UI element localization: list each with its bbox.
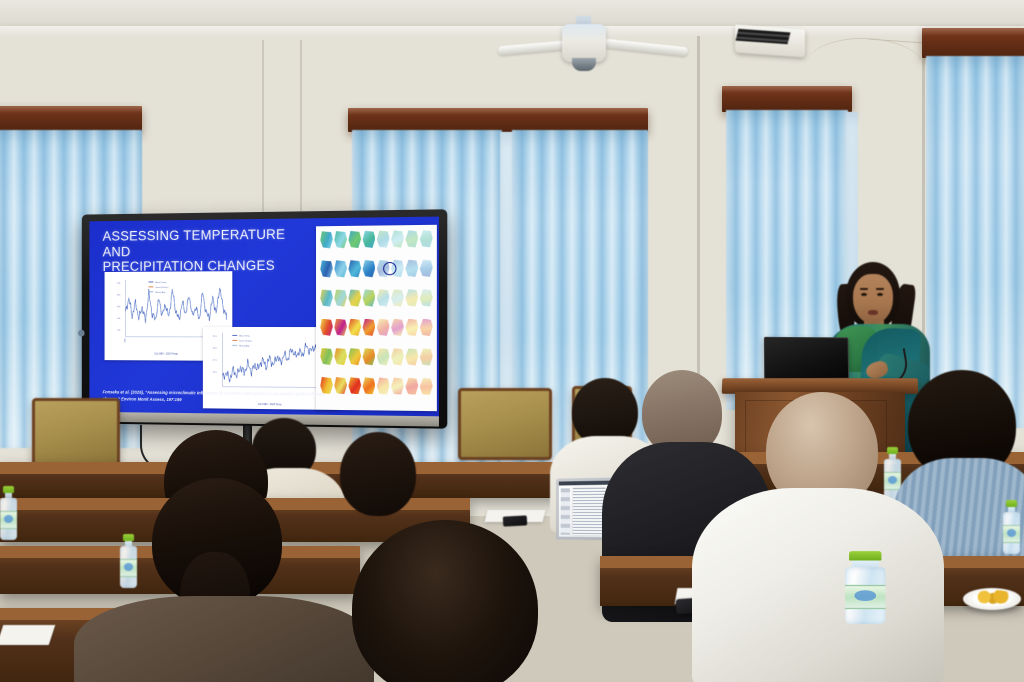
water-bottle[interactable] bbox=[0, 486, 17, 540]
bottle-neck bbox=[852, 561, 879, 568]
map-cell: 1960-1980 bbox=[334, 319, 347, 336]
map-cell: 1960-1980 bbox=[348, 260, 361, 277]
presenter-eyebrow bbox=[876, 288, 884, 290]
map-cell-label: 1960-1980 bbox=[334, 251, 347, 253]
map-cell-label: 1960-1980 bbox=[362, 251, 375, 253]
map-cell-label: 1960-1980 bbox=[420, 310, 433, 312]
presenter-laptop[interactable] bbox=[764, 337, 849, 380]
map-cell: 1960-1980 bbox=[405, 378, 418, 395]
bottle-label bbox=[0, 511, 17, 529]
map-cell-label: 1960-1980 bbox=[320, 339, 333, 341]
map-cell-label: 1960-1980 bbox=[420, 250, 433, 252]
map-cell-label: 1960-1980 bbox=[334, 310, 347, 312]
map-cell: 1960-1980 bbox=[391, 378, 404, 395]
map-cell: 1960-1980 bbox=[420, 378, 433, 396]
map-cell: 1960-1980 bbox=[391, 348, 404, 365]
svg-text:Linear (Temp.): Linear (Temp.) bbox=[239, 339, 252, 342]
map-cell: 1960-1980 bbox=[377, 230, 390, 247]
laptop-document-page bbox=[572, 487, 605, 534]
air-conditioner bbox=[735, 25, 805, 58]
map-cell: 1960-1980 bbox=[362, 348, 375, 365]
map-cell-label: 1960-1980 bbox=[334, 397, 347, 399]
map-cell-label: 1960-1980 bbox=[391, 280, 404, 282]
map-cell-label: 1960-1980 bbox=[377, 251, 390, 253]
bottle-body bbox=[0, 498, 17, 540]
paper-sheet bbox=[0, 625, 55, 645]
map-cell: 1960-1980 bbox=[420, 289, 433, 306]
attendee-front-left bbox=[74, 478, 364, 682]
map-cell: 1960-1980 bbox=[362, 319, 375, 336]
map-cell-label: 1960-1980 bbox=[420, 369, 433, 371]
slide-title-line-1: ASSESSING TEMPERATURE AND bbox=[103, 226, 310, 259]
map-cell-label: 1960-1980 bbox=[320, 281, 333, 283]
laptop-thumbnail-pane bbox=[561, 488, 570, 534]
presenter-eyebrow bbox=[860, 288, 868, 290]
map-cell-label: 1960-1980 bbox=[391, 368, 404, 370]
slide-surface: ASSESSING TEMPERATURE AND PRECIPITATION … bbox=[89, 217, 439, 417]
map-cell-label: 1960-1980 bbox=[348, 339, 361, 341]
conference-room-scene: ASSESSING TEMPERATURE AND PRECIPITATION … bbox=[0, 0, 1024, 682]
ceiling-fan bbox=[498, 16, 688, 76]
map-cell-label: 1960-1980 bbox=[377, 280, 390, 282]
climate-map-grid: 1960-19801960-19801960-19801960-19801960… bbox=[316, 225, 437, 411]
bottle-label bbox=[845, 584, 886, 609]
svg-text:Col 1960 - 2020 Precip.: Col 1960 - 2020 Precip. bbox=[154, 352, 179, 355]
map-cell: 1960-1980 bbox=[320, 289, 333, 306]
map-cell-label: 1960-1980 bbox=[320, 251, 333, 253]
map-cell-label: 1960-1980 bbox=[348, 397, 361, 399]
map-cell: 1960-1980 bbox=[420, 230, 433, 248]
presenter-mouth bbox=[868, 310, 878, 315]
map-cell: 1960-1980 bbox=[420, 319, 433, 336]
map-cell-label: 1960-1980 bbox=[405, 280, 418, 282]
svg-text:Linear (Precip.): Linear (Precip.) bbox=[155, 286, 168, 289]
bottle-cap bbox=[3, 486, 14, 493]
map-cell: 1960-1980 bbox=[362, 231, 375, 248]
map-cell-label: 1960-1980 bbox=[348, 310, 361, 312]
map-cell-label: 1960-1980 bbox=[362, 398, 375, 400]
map-cell: 1960-1980 bbox=[362, 377, 375, 394]
map-cell: 1960-1980 bbox=[377, 319, 390, 336]
tv-power-led-icon bbox=[78, 330, 85, 337]
presentation-screen[interactable]: ASSESSING TEMPERATURE AND PRECIPITATION … bbox=[82, 209, 447, 428]
map-cell-label: 1960-1980 bbox=[348, 251, 361, 253]
map-cell: 1960-1980 bbox=[405, 289, 418, 306]
map-cell-label: 1960-1980 bbox=[377, 398, 390, 400]
presenter-eye bbox=[877, 293, 883, 296]
map-cell-label: 1960-1980 bbox=[405, 398, 418, 400]
map-cell-label: 1960-1980 bbox=[377, 310, 390, 312]
map-cell-label: 1960-1980 bbox=[377, 368, 390, 370]
map-cell: 1960-1980 bbox=[320, 231, 333, 248]
map-cell-label: 1960-1980 bbox=[362, 368, 375, 370]
map-cell-label: 1960-1980 bbox=[391, 398, 404, 400]
fan-motor-housing bbox=[562, 24, 606, 62]
map-cell-label: 1960-1980 bbox=[320, 310, 333, 312]
map-cell: 1960-1980 bbox=[377, 289, 390, 306]
map-cell-label: 1960-1980 bbox=[391, 310, 404, 312]
map-grid-container: 1960-19801960-19801960-19801960-19801960… bbox=[316, 225, 437, 411]
map-cell-label: 1960-1980 bbox=[405, 339, 418, 341]
map-cell: 1960-1980 bbox=[420, 260, 433, 277]
pelmet-right-1 bbox=[722, 86, 852, 112]
map-cell: 1960-1980 bbox=[348, 231, 361, 248]
map-cell: 1960-1980 bbox=[334, 377, 347, 394]
svg-text:1960: 1960 bbox=[125, 338, 127, 342]
map-cell: 1960-1980 bbox=[334, 260, 347, 277]
wooden-chair[interactable] bbox=[458, 388, 552, 460]
fan-blade bbox=[604, 39, 688, 57]
map-cell: 1960-1980 bbox=[334, 231, 347, 248]
attendee-head bbox=[352, 520, 538, 682]
map-cell: 1960-1980 bbox=[405, 319, 418, 336]
pelmet-left-1 bbox=[0, 106, 142, 132]
attendee-torso bbox=[74, 596, 374, 682]
map-cell-label: 1960-1980 bbox=[348, 368, 361, 370]
map-cell: 1960-1980 bbox=[348, 319, 361, 336]
presenter-face bbox=[853, 274, 893, 324]
slide-citation: Fonseka et al. (2025), "Assessing microc… bbox=[103, 389, 330, 404]
map-cell-label: 1960-1980 bbox=[334, 368, 347, 370]
map-cell: 1960-1980 bbox=[391, 289, 404, 306]
map-cell-label: 1960-1980 bbox=[362, 339, 375, 341]
map-cell: 1960-1980 bbox=[420, 348, 433, 365]
map-cell: 1960-1980 bbox=[391, 230, 404, 247]
map-cell-label: 1960-1980 bbox=[405, 369, 418, 371]
slide-title: ASSESSING TEMPERATURE AND PRECIPITATION … bbox=[103, 226, 310, 274]
circled-map-cell bbox=[383, 262, 396, 275]
map-cell-label: 1960-1980 bbox=[320, 368, 333, 370]
map-cell: 1960-1980 bbox=[348, 377, 361, 394]
map-cell: 1960-1980 bbox=[391, 319, 404, 336]
map-cell: 1960-1980 bbox=[362, 289, 375, 306]
map-cell-label: 1960-1980 bbox=[391, 339, 404, 341]
map-cell: 1960-1980 bbox=[405, 348, 418, 365]
map-cell-label: 1960-1980 bbox=[362, 280, 375, 282]
attendee-head bbox=[340, 432, 416, 516]
water-bottle[interactable] bbox=[845, 551, 886, 624]
pelmet-right-2 bbox=[922, 28, 1024, 58]
bottle-body bbox=[1003, 512, 1020, 554]
map-cell: 1960-1980 bbox=[377, 377, 390, 394]
presenter-eye bbox=[861, 293, 867, 296]
map-cell: 1960-1980 bbox=[334, 289, 347, 306]
map-cell: 1960-1980 bbox=[348, 348, 361, 365]
map-cell-label: 1960-1980 bbox=[420, 339, 433, 341]
map-cell-label: 1960-1980 bbox=[420, 280, 433, 282]
map-cell: 1960-1980 bbox=[362, 260, 375, 277]
fan-light-knob bbox=[572, 58, 596, 71]
bottle-label bbox=[1003, 525, 1020, 543]
svg-text:Mean Precip.: Mean Precip. bbox=[155, 281, 167, 284]
map-cell: 1960-1980 bbox=[320, 348, 333, 365]
map-cell-label: 1960-1980 bbox=[405, 251, 418, 253]
map-cell: 1960-1980 bbox=[348, 289, 361, 306]
map-cell: 1960-1980 bbox=[405, 230, 418, 247]
map-cell-label: 1960-1980 bbox=[405, 310, 418, 312]
attendee-torso bbox=[692, 488, 944, 682]
map-cell: 1960-1980 bbox=[334, 348, 347, 365]
map-cell: 1960-1980 bbox=[405, 260, 418, 277]
map-cell: 1960-1980 bbox=[377, 348, 390, 365]
map-cell-label: 1960-1980 bbox=[362, 310, 375, 312]
pelmet-center bbox=[348, 108, 648, 132]
svg-text:Moving Avg.: Moving Avg. bbox=[155, 291, 166, 294]
map-cell-label: 1960-1980 bbox=[391, 251, 404, 253]
map-cell-label: 1960-1980 bbox=[334, 339, 347, 341]
ac-vent-louvers bbox=[736, 29, 791, 44]
bottle-cap bbox=[849, 551, 881, 560]
svg-text:Mean Temp.: Mean Temp. bbox=[239, 335, 250, 337]
map-cell: 1960-1980 bbox=[320, 260, 333, 277]
bottle-body bbox=[845, 567, 886, 624]
attendee-back-right bbox=[340, 432, 430, 524]
svg-text:Moving Avg.: Moving Avg. bbox=[239, 344, 250, 347]
snack-plate bbox=[963, 588, 1021, 610]
water-bottle[interactable] bbox=[1003, 500, 1020, 554]
attendee-front-center bbox=[330, 520, 560, 682]
attendee-white-shirt bbox=[700, 392, 930, 682]
map-cell-label: 1960-1980 bbox=[420, 398, 433, 400]
map-cell-label: 1960-1980 bbox=[334, 280, 347, 282]
map-cell-label: 1960-1980 bbox=[348, 280, 361, 282]
map-cell-label: 1960-1980 bbox=[377, 339, 390, 341]
map-cell: 1960-1980 bbox=[320, 319, 333, 336]
bottle-cap bbox=[1006, 500, 1017, 507]
wooden-chair[interactable] bbox=[32, 398, 120, 468]
